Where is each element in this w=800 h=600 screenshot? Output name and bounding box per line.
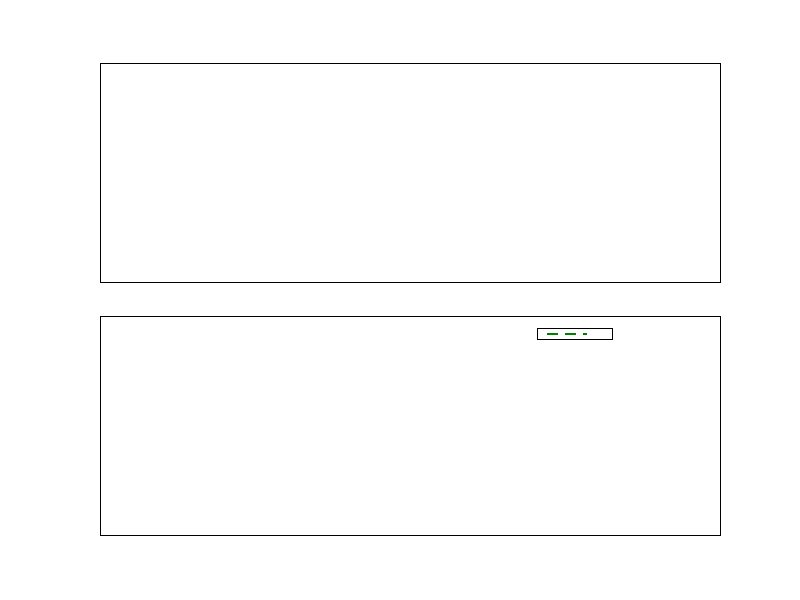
- differential-histogram-axes: [100, 63, 721, 283]
- differential-histogram-plot-area: [101, 64, 720, 282]
- cumulative-histogram-plot-area: [101, 317, 720, 535]
- cumulative-histogram-axes: [100, 316, 721, 536]
- cumulative-curve-svg: [101, 317, 720, 535]
- legend-box: [537, 328, 613, 340]
- mag-limit-legend-swatch: [547, 333, 587, 335]
- figure-canvas: [0, 0, 800, 600]
